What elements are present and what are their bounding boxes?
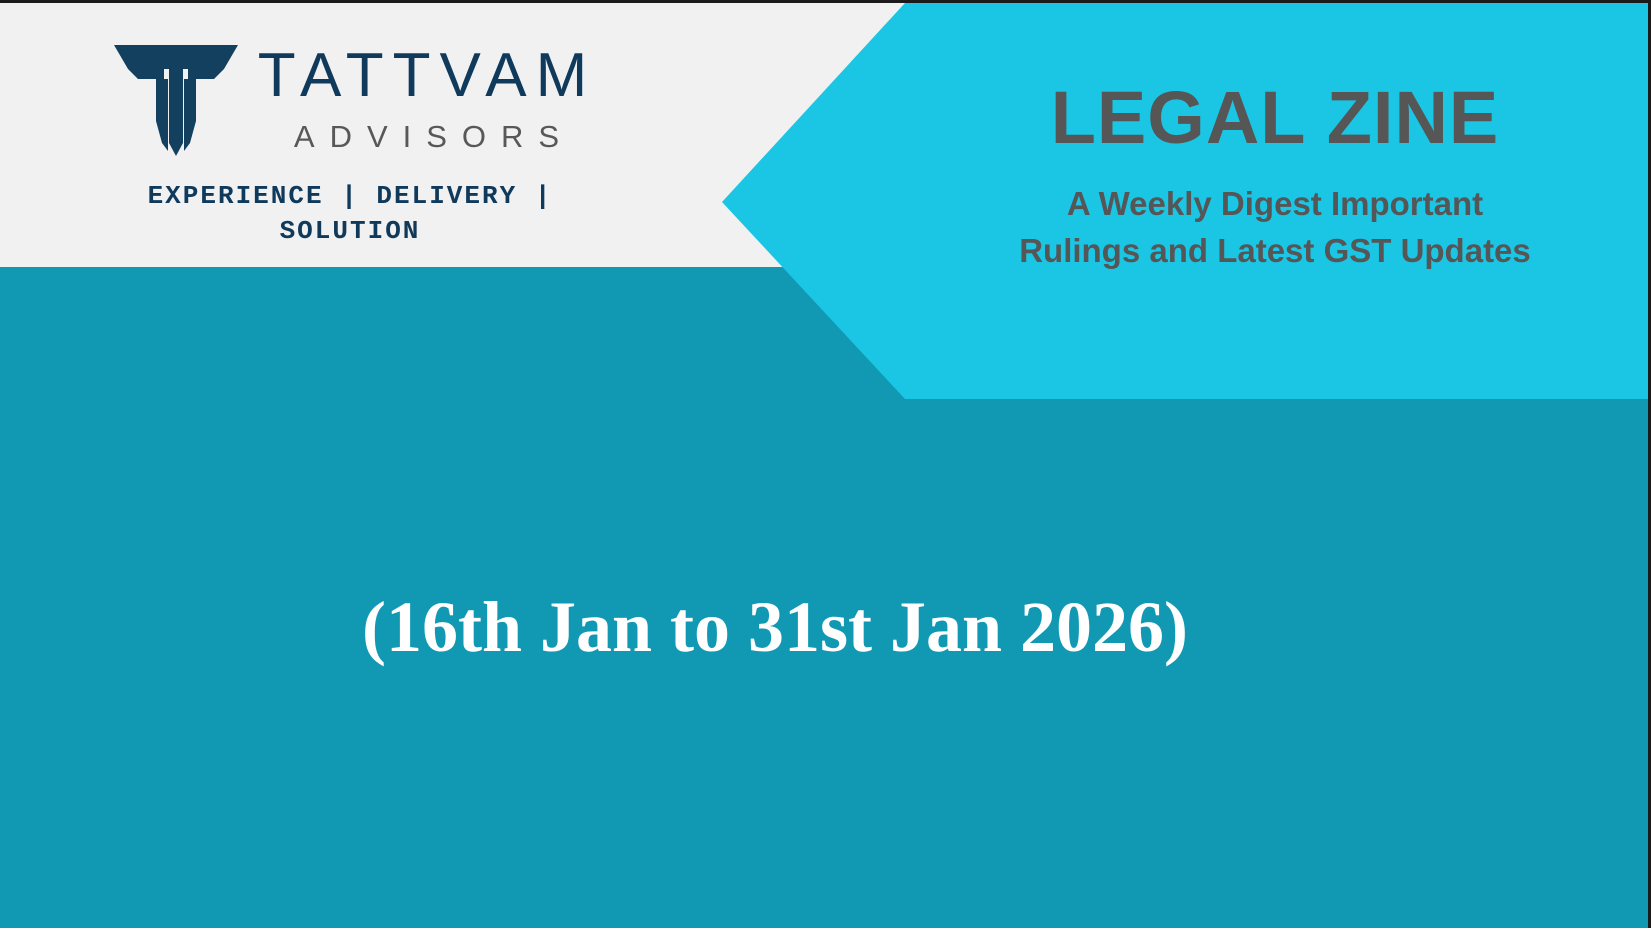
masthead-subtitle: A Weekly Digest Important Rulings and La…: [910, 181, 1640, 275]
masthead-subtitle-line-2: Rulings and Latest GST Updates: [932, 228, 1618, 275]
newsletter-cover: TATTVAM ADVISORS EXPERIENCE | DELIVERY |…: [0, 0, 1651, 928]
wordmark-column: TATTVAM ADVISORS: [258, 45, 597, 152]
brand-tagline-line-2: SOLUTION: [120, 214, 580, 249]
brand-tagline-line-1: EXPERIENCE | DELIVERY |: [120, 179, 580, 214]
tattvam-t-monogram-icon: [112, 39, 240, 157]
brand-logo-block: TATTVAM ADVISORS EXPERIENCE | DELIVERY |…: [0, 37, 700, 249]
brand-tagline: EXPERIENCE | DELIVERY | SOLUTION: [0, 179, 700, 249]
logo-row: TATTVAM ADVISORS: [0, 37, 700, 157]
masthead-title-block: LEGAL ZINE A Weekly Digest Important Rul…: [910, 81, 1640, 275]
masthead-subtitle-line-1: A Weekly Digest Important: [932, 181, 1618, 228]
brand-wordmark: TATTVAM: [258, 45, 597, 107]
masthead-title: LEGAL ZINE: [910, 81, 1640, 155]
brand-wordmark-sub: ADVISORS: [280, 121, 574, 152]
issue-date-range: (16th Jan to 31st Jan 2026): [0, 591, 1550, 663]
